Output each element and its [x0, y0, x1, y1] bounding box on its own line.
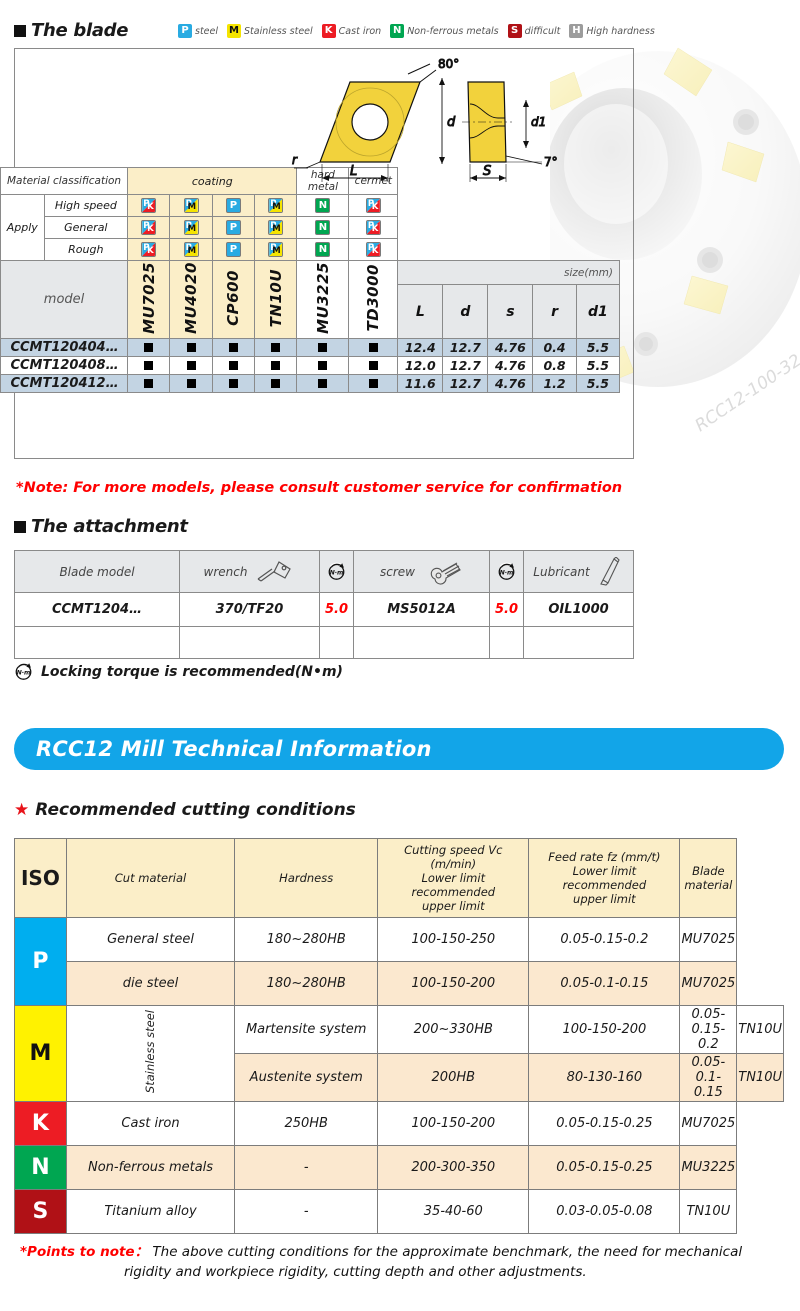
spec-dim-r: 1.2 [533, 374, 576, 392]
attachment-lubricant-value: OIL1000 [524, 593, 634, 627]
spec-mark-cell [170, 338, 212, 356]
dim-header-s: s [488, 285, 533, 338]
iso-group-k: K [15, 1102, 67, 1146]
legend-item-h: HHigh hardness [569, 24, 654, 38]
table-row: NNon-ferrous metals-200-300-3500.05-0.15… [15, 1146, 784, 1190]
dim-r-label: r [292, 153, 298, 167]
cut-feed-fz: 0.05-0.1-0.15 [529, 962, 680, 1006]
availability-mark [271, 343, 280, 352]
spec-mark-cell [349, 338, 398, 356]
dim-d-label: d [447, 115, 456, 130]
iso-badge-p: P [226, 220, 241, 235]
cut-material: General steel [66, 918, 234, 962]
apply-icon-cell: PM [170, 239, 212, 261]
model-name: MU3225 [314, 262, 332, 334]
cut-hardness: 180~280HB [235, 918, 378, 962]
iso-sub-label: Stainless steel [66, 1006, 234, 1102]
cut-feed-fz: 0.05-0.15-0.2 [680, 1006, 737, 1054]
spec-dim-d1: 5.5 [576, 338, 619, 356]
cut-header-material: Cut material [66, 839, 234, 918]
legend-badge-p: P [178, 24, 192, 38]
cut-speed-vc: 100-150-200 [529, 1006, 680, 1054]
iso-group-s: S [15, 1190, 67, 1234]
spec-dim-s: 4.76 [488, 338, 533, 356]
legend-label-n: Non-ferrous metals [407, 26, 498, 37]
apply-mode-label: General [44, 217, 127, 239]
attachment-screw-torque-value: 5.0 [490, 593, 524, 627]
points-to-note: *Points to note： The above cutting condi… [20, 1242, 780, 1283]
apply-icon-cell: N [297, 217, 349, 239]
cut-hardness: - [235, 1146, 378, 1190]
apply-icon-cell: PM [170, 217, 212, 239]
cut-header-vc: Cutting speed Vc (m/min)Lower limitrecom… [378, 839, 529, 918]
availability-mark [144, 343, 153, 352]
iso-badge-pm: PM [268, 242, 283, 257]
iso-badge-p: P [226, 198, 241, 213]
cut-speed-vc: 35-40-60 [378, 1190, 529, 1234]
iso-badge-pm: PM [184, 198, 199, 213]
spec-size-row: modelMU7025MU4020CP600TN10UMU3225TD3000s… [1, 261, 620, 285]
cut-hardness: 250HB [235, 1102, 378, 1146]
model-name: MU7025 [140, 262, 158, 334]
attachment-section-heading: The attachment [14, 516, 188, 537]
availability-mark [318, 361, 327, 370]
spec-dim-s: 4.76 [488, 356, 533, 374]
angle-80-label: 80° [438, 57, 459, 71]
attachment-section-title: The attachment [31, 516, 188, 537]
insert-technical-drawing: 80° d L r d1 [290, 52, 570, 212]
cut-header-fz: Feed rate fz (mm/t)Lower limitrecommende… [529, 839, 680, 918]
iso-badge-pk: PK [141, 242, 156, 257]
model-name-cell: CP600 [212, 261, 254, 339]
apply-label: Apply [1, 195, 45, 261]
apply-icon-cell: PK [128, 217, 170, 239]
iso-badge-pm: PM [184, 220, 199, 235]
legend-badge-k: K [322, 24, 336, 38]
legend-badge-s: S [508, 24, 522, 38]
apply-icon-cell: PM [255, 239, 297, 261]
cut-hardness: 200HB [378, 1054, 529, 1102]
iso-badge-pm: PM [184, 242, 199, 257]
iso-badge-pm: PM [268, 220, 283, 235]
cut-header-iso: ISO [15, 839, 67, 918]
attachment-empty-cell [354, 627, 490, 659]
table-row: CCMT120404…12.412.74.760.45.5 [1, 338, 620, 356]
bullet-square-icon [14, 521, 26, 533]
apply-icon-cell: PK [128, 195, 170, 217]
blade-section-title: The blade [31, 20, 128, 41]
dim-d1-label: d1 [531, 115, 546, 129]
angle-7-label: 7° [544, 155, 558, 169]
torque-note-text: Locking torque is recommended(N•m) [41, 664, 343, 680]
cut-feed-fz: 0.05-0.15-0.25 [529, 1102, 680, 1146]
legend-badge-h: H [569, 24, 583, 38]
spec-mark-cell [255, 356, 297, 374]
cut-blade-material: TN10U [680, 1190, 737, 1234]
spec-mark-cell [212, 374, 254, 392]
banner-title: RCC12 Mill Technical Information [36, 737, 432, 761]
cut-speed-vc: 100-150-200 [378, 962, 529, 1006]
spec-dim-d: 12.7 [443, 356, 488, 374]
apply-icon-cell: PK [349, 239, 398, 261]
dim-S-label: S [483, 164, 491, 179]
legend-item-m: MStainless steel [227, 24, 313, 38]
apply-icon-cell: PM [170, 195, 212, 217]
cut-material: Non-ferrous metals [66, 1146, 234, 1190]
cut-blade-material: MU3225 [680, 1146, 737, 1190]
availability-mark [369, 343, 378, 352]
availability-mark [318, 343, 327, 352]
dim-header-d: d [443, 285, 488, 338]
spec-mark-cell [128, 338, 170, 356]
recommended-conditions-title: Recommended cutting conditions [35, 800, 356, 820]
attachment-table: Blade model wrench [14, 550, 634, 659]
legend-label-h: High hardness [586, 26, 654, 37]
spec-dim-l: 12.0 [398, 356, 443, 374]
wrench-icon [255, 559, 295, 585]
dim-header-l: L [398, 285, 443, 338]
legend-item-p: Psteel [178, 24, 218, 38]
apply-icon-cell: PK [349, 217, 398, 239]
points-to-note-lead: *Points to note： [20, 1244, 148, 1260]
table-row: KCast iron250HB100-150-2000.05-0.15-0.25… [15, 1102, 784, 1146]
availability-mark [187, 361, 196, 370]
spec-dim-s: 4.76 [488, 374, 533, 392]
attachment-wrench-torque-header: N·m [320, 551, 354, 593]
spec-mark-cell [212, 356, 254, 374]
cut-hardness: - [235, 1190, 378, 1234]
screw-icon [423, 559, 463, 585]
attachment-screw-header: screw [354, 551, 490, 593]
cut-speed-vc: 200-300-350 [378, 1146, 529, 1190]
iso-badge-pk: PK [366, 242, 381, 257]
spec-model-code: CCMT120408… [1, 356, 128, 374]
spec-mark-cell [170, 356, 212, 374]
bullet-square-icon [14, 25, 26, 37]
iso-group-m: M [15, 1006, 67, 1102]
iso-badge-pm: PM [268, 198, 283, 213]
model-name-cell: MU7025 [128, 261, 170, 339]
points-to-note-line1: The above cutting conditions for the app… [152, 1244, 742, 1260]
spec-dim-d1: 5.5 [576, 374, 619, 392]
section-banner: RCC12 Mill Technical Information [14, 728, 784, 770]
datasheet-page: RCC12-100-32-6T The blade PsteelMStainle… [0, 0, 800, 1311]
cut-header-blade-material: Blade material [680, 839, 737, 918]
lubricant-tube-icon [598, 557, 624, 587]
spec-dim-d: 12.7 [443, 338, 488, 356]
iso-badge-p: P [226, 242, 241, 257]
availability-mark [187, 343, 196, 352]
cutting-conditions-table: ISOCut materialHardnessCutting speed Vc … [14, 838, 784, 1234]
availability-mark [369, 361, 378, 370]
cut-header-row: ISOCut materialHardnessCutting speed Vc … [15, 839, 784, 918]
size-unit-header: size(mm) [398, 261, 620, 285]
apply-icon-cell: N [297, 239, 349, 261]
cut-material: Martensite system [235, 1006, 378, 1054]
dim-header-d1: d1 [576, 285, 619, 338]
spec-mark-cell [170, 374, 212, 392]
spec-dim-l: 11.6 [398, 374, 443, 392]
attachment-screw-torque-header: N·m [490, 551, 524, 593]
dim-L-label: L [350, 164, 357, 179]
spec-mark-cell [128, 356, 170, 374]
availability-mark [229, 379, 238, 388]
svg-text:N·m: N·m [17, 670, 31, 677]
cut-material: die steel [66, 962, 234, 1006]
availability-mark [144, 361, 153, 370]
availability-mark [271, 361, 280, 370]
cut-blade-material: TN10U [737, 1006, 784, 1054]
iso-badge-n: N [315, 242, 330, 257]
cut-speed-vc: 100-150-250 [378, 918, 529, 962]
model-name-cell: MU3225 [297, 261, 349, 339]
cut-blade-material: MU7025 [680, 962, 737, 1006]
apply-icon-cell: P [212, 217, 254, 239]
cut-blade-material: TN10U [737, 1054, 784, 1102]
torque-icon: N·m [327, 562, 346, 581]
iso-group-p: P [15, 918, 67, 1006]
spec-mark-cell [212, 338, 254, 356]
attachment-wrench-torque-value: 5.0 [320, 593, 354, 627]
legend-badge-n: N [390, 24, 404, 38]
spec-mark-cell [297, 356, 349, 374]
cut-speed-vc: 100-150-200 [378, 1102, 529, 1146]
iso-group-n: N [15, 1146, 67, 1190]
model-name: CP600 [224, 270, 242, 326]
attachment-value-row: CCMT1204… 370/TF20 5.0 MS5012A 5.0 OIL10… [15, 593, 634, 627]
star-icon: ★ [14, 802, 29, 819]
cut-hardness: 180~280HB [235, 962, 378, 1006]
attachment-empty-cell [180, 627, 320, 659]
cut-feed-fz: 0.03-0.05-0.08 [529, 1190, 680, 1234]
apply-icon-cell: PK [128, 239, 170, 261]
cut-hardness: 200~330HB [378, 1006, 529, 1054]
legend-label-s: difficult [525, 26, 561, 37]
cut-feed-fz: 0.05-0.15-0.25 [529, 1146, 680, 1190]
attachment-empty-cell [320, 627, 354, 659]
legend-label-m: Stainless steel [244, 26, 313, 37]
coating-header: coating [128, 168, 297, 195]
engraved-model-text: RCC12-100-32-6T [692, 334, 800, 436]
cut-material: Titanium alloy [66, 1190, 234, 1234]
svg-text:N·m: N·m [330, 570, 344, 577]
model-name: MU4020 [182, 262, 200, 334]
cut-feed-fz: 0.05-0.15-0.2 [529, 918, 680, 962]
spec-dim-d1: 5.5 [576, 356, 619, 374]
spec-dim-r: 0.4 [533, 338, 576, 356]
attachment-screw-value: MS5012A [354, 593, 490, 627]
iso-badge-pk: PK [141, 220, 156, 235]
torque-icon: N·m [14, 662, 33, 681]
model-label: model [1, 261, 128, 339]
spec-model-code: CCMT120404… [1, 338, 128, 356]
availability-mark [318, 379, 327, 388]
apply-mode-label: High speed [44, 195, 127, 217]
table-row: die steel180~280HB100-150-2000.05-0.1-0.… [15, 962, 784, 1006]
spec-dim-d: 12.7 [443, 374, 488, 392]
spec-mark-cell [297, 338, 349, 356]
spec-mark-cell [128, 374, 170, 392]
iso-badge-pk: PK [141, 198, 156, 213]
material-classification-header: Material classification [1, 168, 128, 195]
cut-header-hardness: Hardness [235, 839, 378, 918]
availability-mark [369, 379, 378, 388]
attachment-wrench-header: wrench [180, 551, 320, 593]
stainless-steel-label: Stainless steel [144, 1010, 157, 1093]
iso-legend: PsteelMStainless steelKCast ironNNon-fer… [178, 24, 661, 38]
attachment-blade-model-header: Blade model [15, 551, 180, 593]
torque-icon: N·m [497, 562, 516, 581]
blade-section-heading: The blade [14, 20, 128, 41]
iso-badge-pk: PK [366, 220, 381, 235]
apply-mode-label: Rough [44, 239, 127, 261]
spec-mark-cell [255, 338, 297, 356]
attachment-lubricant-header: Lubricant [524, 551, 634, 593]
spec-mark-cell [349, 356, 398, 374]
spec-model-code: CCMT120412… [1, 374, 128, 392]
attachment-empty-cell [524, 627, 634, 659]
dim-header-r: r [533, 285, 576, 338]
table-row: STitanium alloy-35-40-600.03-0.05-0.08TN… [15, 1190, 784, 1234]
model-name: TN10U [267, 269, 285, 327]
legend-label-k: Cast iron [339, 26, 382, 37]
torque-note: N·m Locking torque is recommended(N•m) [14, 662, 343, 681]
availability-mark [144, 379, 153, 388]
availability-mark [229, 361, 238, 370]
cut-blade-material: MU7025 [680, 1102, 737, 1146]
availability-mark [187, 379, 196, 388]
table-row: CCMT120412…11.612.74.761.25.5 [1, 374, 620, 392]
iso-badge-n: N [315, 220, 330, 235]
cut-blade-material: MU7025 [680, 918, 737, 962]
spec-dim-l: 12.4 [398, 338, 443, 356]
cut-feed-fz: 0.05-0.1-0.15 [680, 1054, 737, 1102]
attachment-blade-model-value: CCMT1204… [15, 593, 180, 627]
spec-mark-cell [297, 374, 349, 392]
attachment-empty-cell [490, 627, 524, 659]
table-row: MStainless steelMartensite system200~330… [15, 1006, 784, 1054]
cut-speed-vc: 80-130-160 [529, 1054, 680, 1102]
attachment-wrench-value: 370/TF20 [180, 593, 320, 627]
apply-icon-cell: PM [255, 217, 297, 239]
legend-badge-m: M [227, 24, 241, 38]
apply-icon-cell: P [212, 239, 254, 261]
cut-material: Cast iron [66, 1102, 234, 1146]
recommended-conditions-heading: ★ Recommended cutting conditions [14, 800, 356, 820]
attachment-empty-row [15, 627, 634, 659]
spec-mark-cell [349, 374, 398, 392]
model-name: TD3000 [364, 264, 382, 331]
legend-item-k: KCast iron [322, 24, 382, 38]
legend-item-s: Sdifficult [508, 24, 561, 38]
availability-mark [229, 343, 238, 352]
legend-label-p: steel [195, 26, 218, 37]
svg-text:N·m: N·m [500, 570, 514, 577]
model-name-cell: TN10U [255, 261, 297, 339]
attachment-header-row: Blade model wrench [15, 551, 634, 593]
apply-icon-cell: P [212, 195, 254, 217]
table-row: CCMT120408…12.012.74.760.85.5 [1, 356, 620, 374]
points-to-note-line2: rigidity and workpiece rigidity, cutting… [20, 1262, 780, 1282]
availability-mark [271, 379, 280, 388]
cut-material: Austenite system [235, 1054, 378, 1102]
model-name-cell: MU4020 [170, 261, 212, 339]
table-row: PGeneral steel180~280HB100-150-2500.05-0… [15, 918, 784, 962]
models-note: *Note: For more models, please consult c… [16, 480, 656, 496]
model-name-cell: TD3000 [349, 261, 398, 339]
spec-dim-r: 0.8 [533, 356, 576, 374]
legend-item-n: NNon-ferrous metals [390, 24, 498, 38]
spec-mark-cell [255, 374, 297, 392]
attachment-empty-cell [15, 627, 180, 659]
